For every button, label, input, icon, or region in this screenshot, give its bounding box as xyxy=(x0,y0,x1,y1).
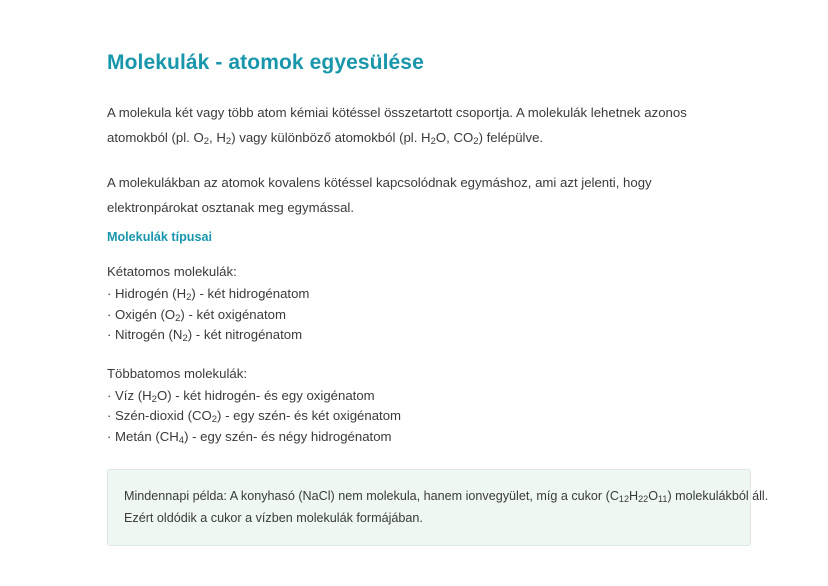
bullet-icon: · xyxy=(107,427,115,448)
list-item: ·Oxigén (O2) - két oxigénatom xyxy=(107,305,755,326)
paragraph-intro-definition: A molekula két vagy több atom kémiai köt… xyxy=(107,100,729,150)
section-heading-molecule-types: Molekulák típusai xyxy=(107,228,755,246)
bullet-list-diatomic: ·Hidrogén (H2) - két hidrogénatom ·Oxigé… xyxy=(107,284,755,346)
list-item-label: Nitrogén (N2) - két nitrogénatom xyxy=(115,327,302,342)
list-intro-diatomic: Kétatomos molekulák: xyxy=(107,262,755,282)
list-item: ·Hidrogén (H2) - két hidrogénatom xyxy=(107,284,755,305)
list-item: ·Nitrogén (N2) - két nitrogénatom xyxy=(107,325,755,346)
bullet-list-polyatomic: ·Víz (H2O) - két hidrogén- és egy oxigén… xyxy=(107,386,755,448)
list-item: ·Víz (H2O) - két hidrogén- és egy oxigén… xyxy=(107,386,755,407)
list-item: ·Szén-dioxid (CO2) - egy szén- és két ox… xyxy=(107,406,755,427)
bullet-icon: · xyxy=(107,305,115,326)
list-group-polyatomic: Többatomos molekulák: ·Víz (H2O) - két h… xyxy=(107,364,755,448)
bullet-icon: · xyxy=(107,406,115,427)
bullet-icon: · xyxy=(107,386,115,407)
list-item-label: Oxigén (O2) - két oxigénatom xyxy=(115,307,286,322)
list-item: ·Metán (CH4) - egy szén- és négy hidrogé… xyxy=(107,427,755,448)
bullet-icon: · xyxy=(107,284,115,305)
list-item-label: Metán (CH4) - egy szén- és négy hidrogén… xyxy=(115,429,392,444)
callout-line: Ezért oldódik a cukor a vízben molekulák… xyxy=(124,507,734,529)
callout-everyday-example: Mindennapi példa: A konyhasó (NaCl) nem … xyxy=(107,469,751,546)
list-item-label: Szén-dioxid (CO2) - egy szén- és két oxi… xyxy=(115,408,401,423)
page-title: Molekulák - atomok egyesülése xyxy=(107,50,755,76)
bullet-icon: · xyxy=(107,325,115,346)
list-group-diatomic: Kétatomos molekulák: ·Hidrogén (H2) - ké… xyxy=(107,262,755,346)
list-item-label: Víz (H2O) - két hidrogén- és egy oxigéna… xyxy=(115,388,375,403)
document-page: Molekulák - atomok egyesülése A molekula… xyxy=(0,0,828,586)
list-intro-polyatomic: Többatomos molekulák: xyxy=(107,364,755,384)
document-content: Molekulák - atomok egyesülése A molekula… xyxy=(107,50,755,546)
paragraph-covalent-bonds: A molekulákban az atomok kovalens kötéss… xyxy=(107,170,729,220)
list-item-label: Hidrogén (H2) - két hidrogénatom xyxy=(115,286,309,301)
callout-line: Mindennapi példa: A konyhasó (NaCl) nem … xyxy=(124,485,734,507)
